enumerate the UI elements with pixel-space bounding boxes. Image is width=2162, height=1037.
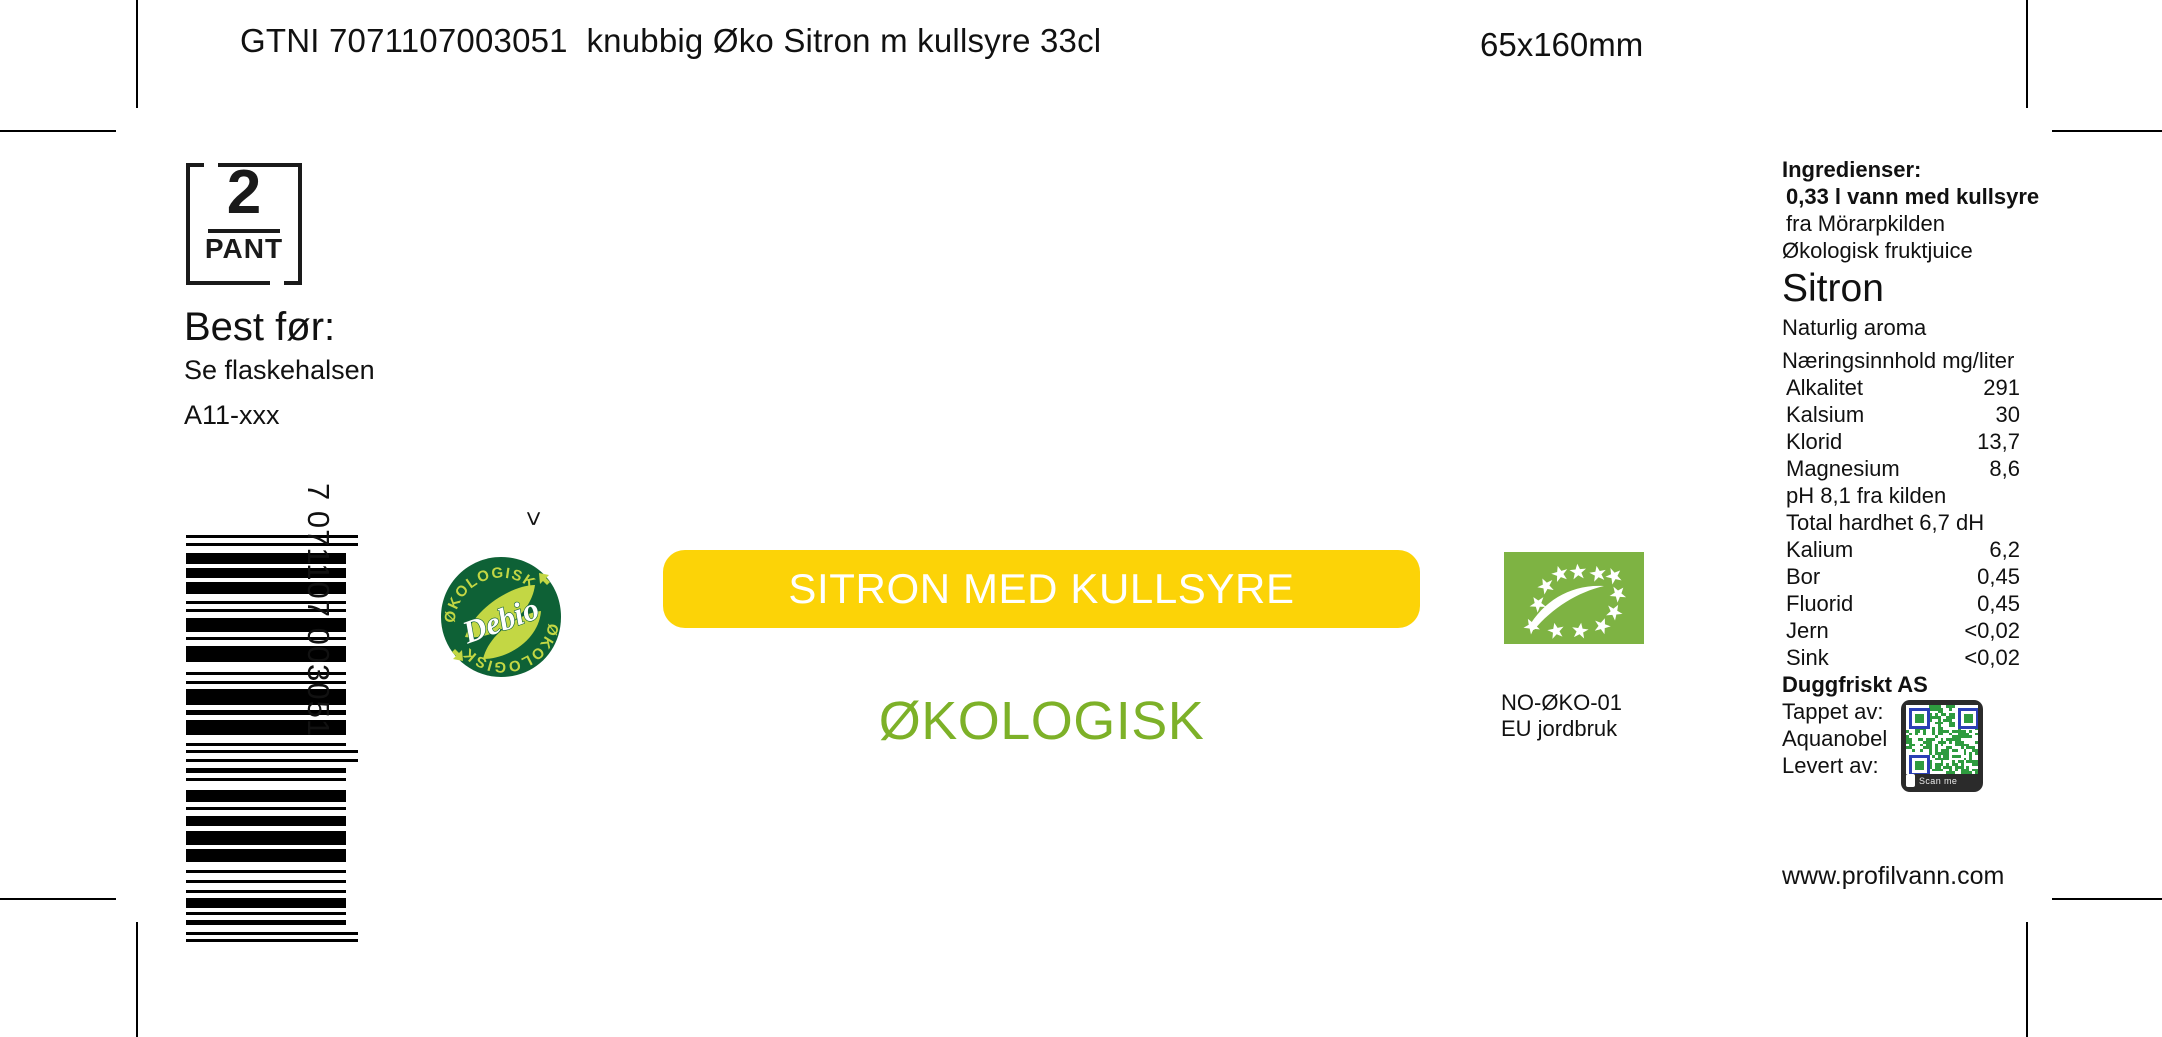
nutrition-heading: Næringsinnhold mg/liter [1782, 347, 2042, 374]
table-row: Bor0,45 [1782, 563, 2042, 590]
nutrient-name: Jern [1782, 617, 1829, 644]
deposit-word: PANT [186, 233, 302, 265]
crop-mark-bottom-left-vertical [136, 922, 138, 1037]
crop-mark-top-left-horizontal [0, 130, 116, 132]
barcode-caret-icon: > [518, 511, 549, 541]
nutrient-name: Kalium [1782, 536, 1853, 563]
barcode: 7 071107 003051 > [186, 535, 346, 845]
nutrient-value: 6,2 [1989, 536, 2042, 563]
ph-line: pH 8,1 fra kilden [1782, 482, 2042, 509]
phone-icon [1906, 774, 1915, 787]
nutrient-name: Fluorid [1782, 590, 1853, 617]
page-title: GTNI 7071107003051 knubbig Øko Sitron m … [240, 22, 1101, 60]
nutrient-name: Bor [1782, 563, 1820, 590]
ingredient-juice: Økologisk fruktjuice [1782, 237, 2042, 264]
crop-mark-top-left-vertical [136, 0, 138, 108]
nutrient-value: <0,02 [1964, 617, 2042, 644]
table-row: Magnesium8,6 [1782, 455, 2042, 482]
flavour-name: Sitron [1782, 266, 2042, 312]
nutrient-value: <0,02 [1964, 644, 2042, 671]
organic-label: ØKOLOGISK [663, 690, 1420, 752]
ingredient-main: 0,33 l vann med kullsyre [1782, 183, 2042, 210]
table-row: Alkalitet291 [1782, 374, 2042, 401]
eu-organic-code: NO-ØKO-01 [1501, 690, 1622, 716]
nutrient-name: Sink [1782, 644, 1829, 671]
deposit-number: 2 [186, 157, 302, 229]
product-name-text: SITRON MED KULLSYRE [788, 565, 1294, 613]
hardness-line: Total hardhet 6,7 dH [1782, 509, 2042, 536]
table-row: Fluorid0,45 [1782, 590, 2042, 617]
crop-mark-bottom-right-horizontal [2052, 898, 2162, 900]
table-row: Kalium6,2 [1782, 536, 2042, 563]
website-url: www.profilvann.com [1782, 862, 2004, 891]
qr-code-badge[interactable]: Scan me [1901, 700, 1983, 792]
company-name: Duggfriskt AS [1782, 671, 2042, 698]
eu-leaf-svg [1504, 552, 1644, 644]
product-name-banner: SITRON MED KULLSYRE [663, 550, 1420, 628]
nutrient-name: Magnesium [1782, 455, 1900, 482]
ingredient-source: fra Mörarpkilden [1782, 210, 2042, 237]
barcode-digits: 7 071107 003051 [296, 483, 336, 803]
batch-code: A11-xxx [184, 400, 280, 431]
aroma-line: Naturlig aroma [1782, 314, 2042, 341]
label-dimensions: 65x160mm [1480, 26, 1643, 64]
ingredients-label: Ingredienser: [1782, 156, 2042, 183]
crop-mark-top-right-horizontal [2052, 130, 2162, 132]
nutrient-name: Kalsium [1782, 401, 1864, 428]
nutrient-value: 8,6 [1989, 455, 2042, 482]
nutrient-value: 0,45 [1977, 563, 2042, 590]
best-before-value: Se flaskehalsen [184, 355, 375, 386]
eu-organic-leaf-logo [1504, 552, 1644, 644]
debio-organic-logo: ØKOLOGISK ØKOLOGISK Debio [439, 555, 563, 679]
nutrient-value: 0,45 [1977, 590, 2042, 617]
best-before-label: Best før: [184, 305, 335, 350]
deposit-pant-logo: 2 PANT [186, 163, 302, 285]
nutrient-value: 13,7 [1977, 428, 2042, 455]
crop-mark-bottom-left-horizontal [0, 898, 116, 900]
table-row: Klorid13,7 [1782, 428, 2042, 455]
crop-mark-top-right-vertical [2026, 0, 2028, 108]
debio-logo-svg: ØKOLOGISK ØKOLOGISK Debio [439, 555, 563, 679]
nutrient-name: Alkalitet [1782, 374, 1863, 401]
crop-mark-bottom-right-vertical [2026, 922, 2028, 1037]
table-row: Sink<0,02 [1782, 644, 2042, 671]
nutrient-value: 291 [1983, 374, 2042, 401]
eu-organic-farming: EU jordbruk [1501, 716, 1617, 742]
qr-scan-bar: Scan me [1906, 772, 1978, 789]
table-row: Kalsium30 [1782, 401, 2042, 428]
table-row: Jern<0,02 [1782, 617, 2042, 644]
ingredients-panel: Ingredienser: 0,33 l vann med kullsyre f… [1782, 156, 2042, 779]
nutrient-name: Klorid [1782, 428, 1842, 455]
qr-code-image [1906, 705, 1978, 774]
nutrient-value: 30 [1996, 401, 2042, 428]
qr-scan-label: Scan me [1919, 776, 1957, 786]
